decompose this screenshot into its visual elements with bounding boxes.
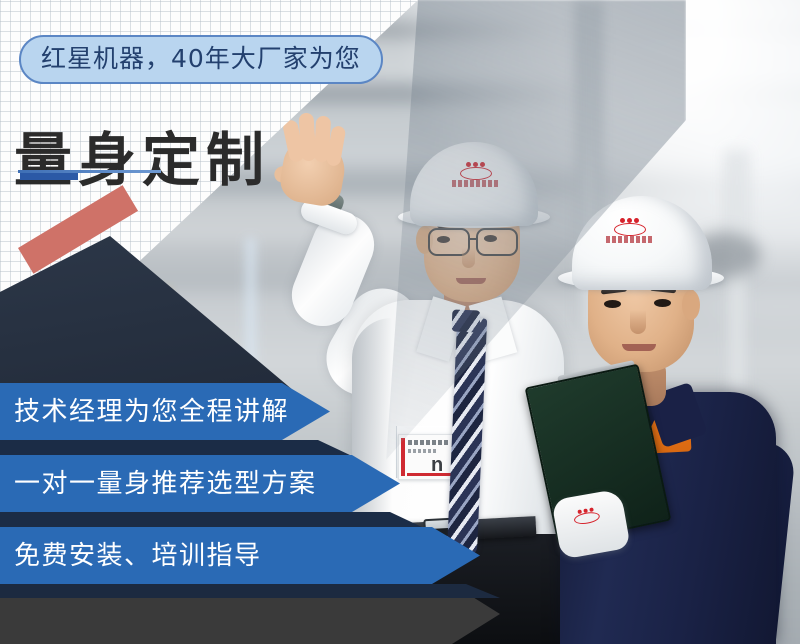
bottom-strip-shadow — [0, 584, 500, 598]
feature-bar-shadow-1 — [0, 440, 352, 456]
nose — [630, 310, 646, 334]
page-title: 量身定制 — [14, 131, 270, 189]
feature-bar-shadow-2 — [0, 512, 424, 528]
feature-bar-2-label: 一对一量身推荐选型方案 — [14, 455, 317, 512]
eye-left — [604, 300, 621, 308]
eye-right — [654, 299, 671, 307]
feature-bar-1: 技术经理为您全程讲解 — [0, 383, 330, 440]
tagline-badge: 红星机器，40年大厂家为您 — [19, 35, 383, 84]
employee-badge: n — [398, 434, 458, 480]
promo-banner: n — [0, 0, 800, 644]
mouth — [622, 344, 656, 351]
feature-bar-3: 免费安装、培训指导 — [0, 527, 480, 584]
worker-two-ear — [682, 290, 700, 320]
headline-rule-thick — [20, 173, 78, 180]
helmet-brand-text — [606, 236, 654, 243]
hongxing-logo-icon — [612, 218, 646, 234]
feature-bar-1-label: 技术经理为您全程讲解 — [14, 383, 289, 440]
work-glove — [551, 488, 630, 559]
feature-bar-2: 一对一量身推荐选型方案 — [0, 455, 400, 512]
feature-bar-3-label: 免费安装、培训指导 — [14, 527, 262, 584]
